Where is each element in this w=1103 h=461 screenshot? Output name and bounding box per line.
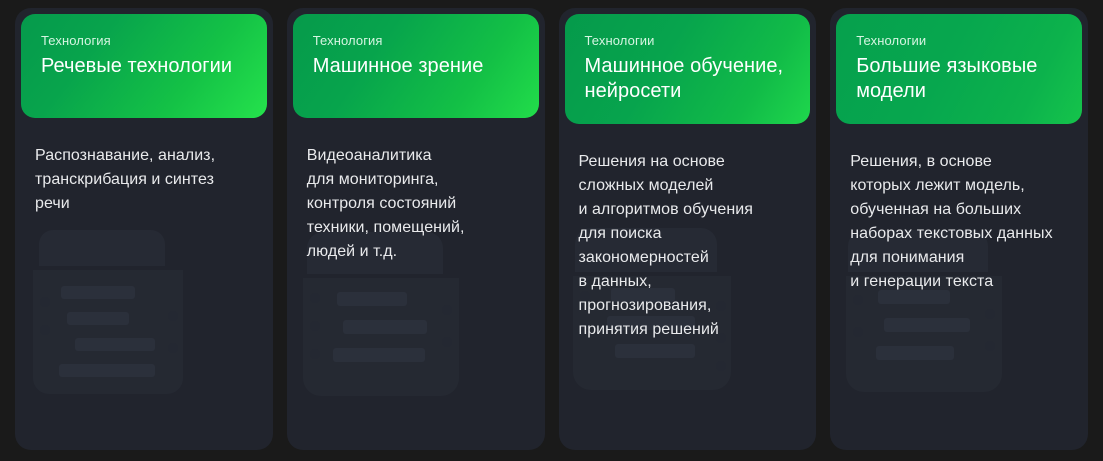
technology-card-llm[interactable]: Технологии Большие языковые модели Решен… [830, 8, 1088, 450]
card-header-machine-learning: Технологии Машинное обучение, нейросети [565, 14, 811, 124]
card-title: Машинное обучение, нейросети [585, 54, 791, 104]
card-description: Распознавание, анализ, транскрибация и с… [35, 144, 253, 216]
card-title: Большие языковые модели [856, 54, 1062, 104]
card-body-llm: Решения, в основе которых лежит модель, … [830, 124, 1088, 450]
card-eyebrow: Технология [313, 32, 519, 49]
technology-card-speech[interactable]: Технология Речевые технологии Распознава… [15, 8, 273, 450]
card-header-speech: Технология Речевые технологии [21, 14, 267, 118]
card-body-computer-vision: Видеоаналитика для мониторинга, контроля… [287, 118, 545, 450]
technology-card-machine-learning[interactable]: Технологии Машинное обучение, нейросети … [559, 8, 817, 450]
card-body-machine-learning: Решения на основе сложных моделей и алго… [559, 124, 817, 450]
card-title: Речевые технологии [41, 54, 247, 79]
card-header-llm: Технологии Большие языковые модели [836, 14, 1082, 124]
technology-card-computer-vision[interactable]: Технология Машинное зрение Видеоаналитик… [287, 8, 545, 450]
card-title: Машинное зрение [313, 54, 519, 79]
card-body-speech: Распознавание, анализ, транскрибация и с… [15, 118, 273, 450]
card-header-computer-vision: Технология Машинное зрение [293, 14, 539, 118]
card-eyebrow: Технологии [856, 32, 1062, 49]
card-eyebrow: Технология [41, 32, 247, 49]
card-description: Решения, в основе которых лежит модель, … [850, 150, 1068, 294]
technology-cards-row: Технология Речевые технологии Распознава… [0, 0, 1103, 461]
card-description: Видеоаналитика для мониторинга, контроля… [307, 144, 525, 264]
card-eyebrow: Технологии [585, 32, 791, 49]
card-description: Решения на основе сложных моделей и алго… [579, 150, 797, 342]
